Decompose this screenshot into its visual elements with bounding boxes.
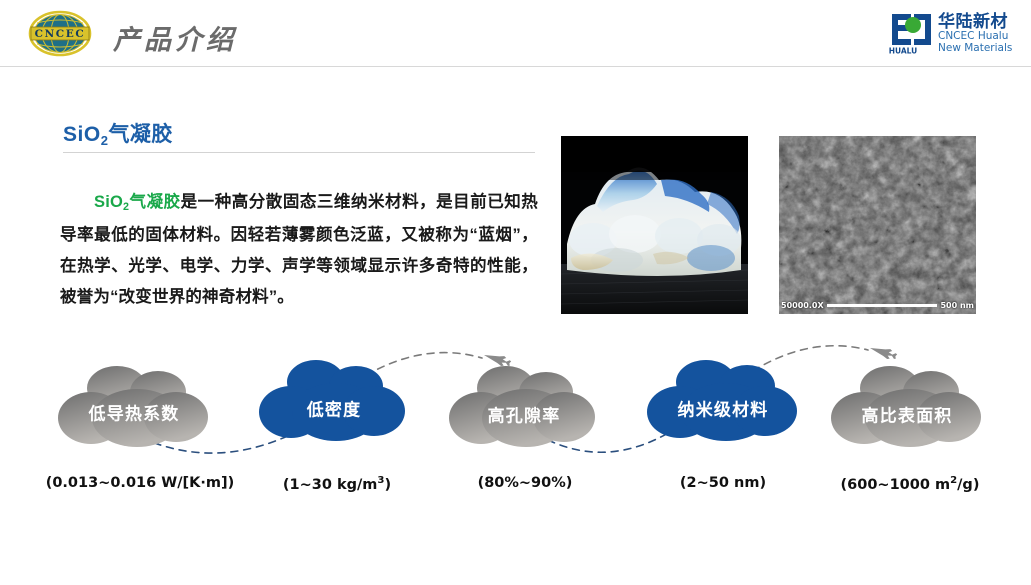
cloud-caption-pre: (1~30 kg/m [283, 477, 378, 493]
slide-header: CNCEC 产品介绍 HUALU 华陆新材 CNCEC Hualu New Ma… [0, 0, 1031, 66]
cloud-shape [258, 354, 410, 444]
header-divider [0, 66, 1031, 67]
cloud-item[interactable]: 高孔隙率 [448, 360, 600, 450]
hualu-mark-icon: HUALU [889, 14, 931, 56]
sem-magnification-label: 50000.0X [781, 301, 824, 310]
cncec-hualu-logo: HUALU 华陆新材 CNCEC Hualu New Materials [887, 8, 1019, 56]
airplane-icon [868, 343, 898, 362]
section-heading-suffix: 气凝胶 [108, 123, 173, 146]
page-title: 产品介绍 [113, 18, 237, 57]
cloud-item[interactable]: 纳米级材料 [644, 354, 802, 444]
paragraph-highlight: SiO2气凝胶 [94, 193, 181, 211]
sem-micrograph: 50000.0X 500 nm [779, 136, 976, 314]
cloud-caption-pre: (600~1000 m [841, 477, 951, 493]
hualu-en-line1: CNCEC Hualu [938, 30, 1008, 42]
section-heading-prefix: SiO [63, 123, 101, 146]
cloud-shape [828, 360, 986, 450]
cloud-shape [644, 354, 802, 444]
cloud-shape [55, 360, 213, 450]
sem-scalebar: 50000.0X 500 nm [779, 299, 976, 312]
sem-scale-label: 500 nm [940, 301, 974, 310]
cncec-logo-text: CNCEC [35, 28, 86, 40]
section-heading-underline [63, 152, 535, 153]
section-heading: SiO2气凝胶 [63, 118, 173, 148]
hualu-cn-name: 华陆新材 [938, 11, 1008, 32]
sem-scalebar-line [827, 304, 938, 307]
cloud-caption: (600~1000 m2/g) [790, 475, 1030, 493]
cloud-shape [448, 360, 600, 450]
properties-cloud-diagram: 低导热系数 (0.013~0.016 W/[K·m]) 低密度 (1~30 kg… [0, 320, 1031, 500]
cloud-item[interactable]: 高比表面积 [828, 360, 986, 450]
cncec-logo: CNCEC [21, 10, 99, 57]
hualu-mark-text: HUALU [889, 47, 918, 56]
cloud-item[interactable]: 低导热系数 [55, 360, 213, 450]
aerogel-sample-photo [561, 136, 748, 314]
sem-texture [779, 136, 976, 314]
hualu-en-line2: New Materials [938, 42, 1012, 54]
paragraph-highlight-suffix: 气凝胶 [129, 193, 180, 211]
cloud-item[interactable]: 低密度 [258, 354, 410, 444]
section-heading-subscript: 2 [101, 133, 109, 148]
cloud-caption-post: ) [384, 477, 391, 493]
paragraph-highlight-subscript: 2 [123, 201, 129, 213]
intro-paragraph: SiO2气凝胶是一种高分散固态三维纳米材料，是目前已知热导率最低的固体材料。因轻… [60, 187, 538, 313]
paragraph-highlight-prefix: SiO [94, 193, 123, 211]
cloud-caption-post: /g) [957, 477, 979, 493]
